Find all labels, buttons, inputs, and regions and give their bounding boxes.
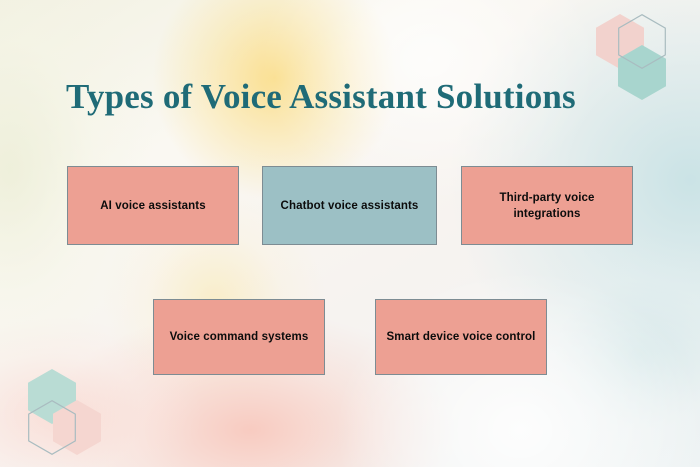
concept-box-chatbot-voice-assistants[interactable]: Chatbot voice assistants [262, 166, 437, 245]
concept-box-label: Smart device voice control [387, 329, 536, 345]
hexagon-cluster-bottom-left-icon [28, 369, 120, 459]
concept-box-label: Chatbot voice assistants [281, 198, 419, 214]
concept-box-smart-device-voice-control[interactable]: Smart device voice control [375, 299, 547, 375]
concept-box-label: Voice command systems [170, 329, 309, 345]
concept-box-third-party-voice-integrations[interactable]: Third-party voice integrations [461, 166, 633, 245]
hexagon-cluster-top-right-icon [596, 10, 688, 100]
concept-box-label: Third-party voice integrations [472, 190, 622, 222]
outline-hexagon-icon [618, 14, 666, 69]
concept-box-label: AI voice assistants [100, 198, 205, 214]
concept-box-ai-voice-assistants[interactable]: AI voice assistants [67, 166, 239, 245]
outline-hexagon-icon [28, 400, 76, 455]
slide-canvas: Types of Voice Assistant Solutions AI vo… [0, 0, 700, 467]
page-title: Types of Voice Assistant Solutions [66, 75, 576, 119]
concept-box-voice-command-systems[interactable]: Voice command systems [153, 299, 325, 375]
